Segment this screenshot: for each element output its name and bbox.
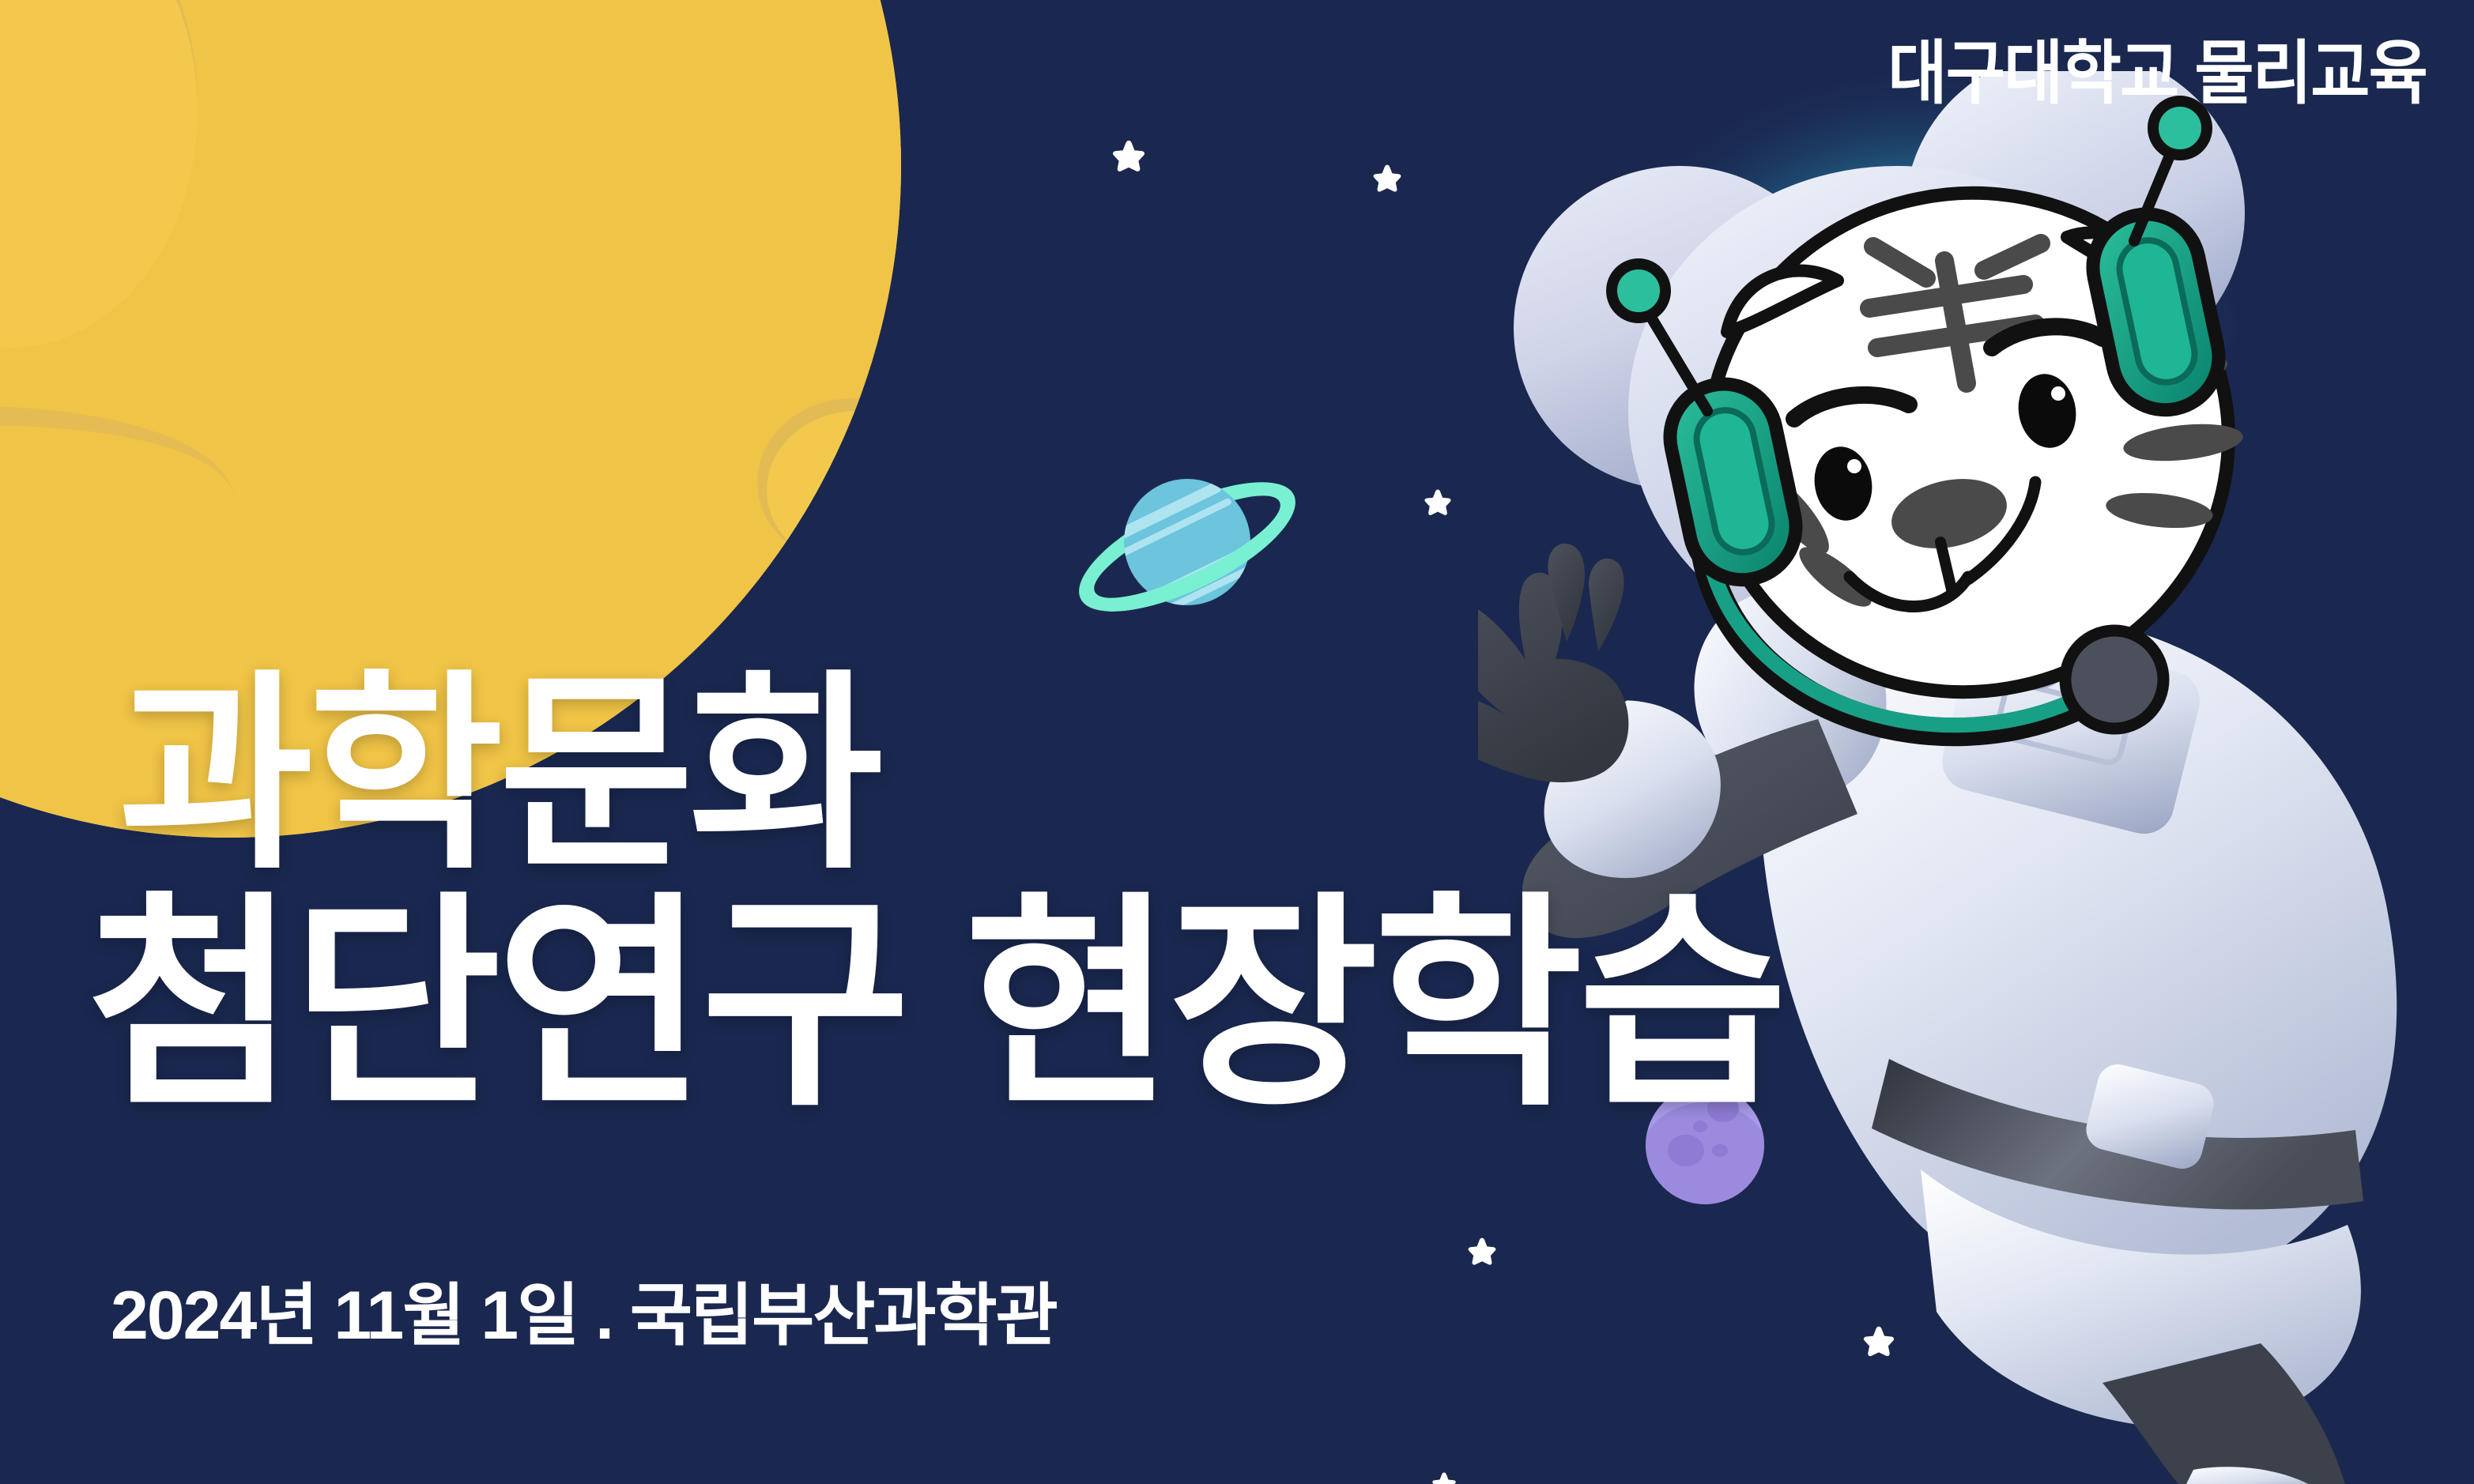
- ringed-planet-icon: [1075, 458, 1304, 632]
- star-icon: [1111, 139, 1147, 175]
- star-icon: [1371, 164, 1403, 195]
- university-logo-text: 대구대학교 물리교육: [1888, 17, 2427, 118]
- antenna-left-bulb: [1612, 264, 1665, 318]
- astronaut-glove: [1478, 544, 1628, 782]
- poster-canvas: 대구대학교 물리교육 과학문화 첨단연구 현장학습 2024년 11월 1일 .…: [0, 0, 2474, 1484]
- poster-title-line-2: 첨단연구 현장학습: [87, 891, 1783, 1119]
- star-icon: [1423, 488, 1453, 518]
- star-icon: [1431, 1471, 1458, 1484]
- headset-mic: [2065, 631, 2163, 729]
- poster-title-line-1: 과학문화: [119, 669, 879, 880]
- astronaut-tiger-mascot: [1478, 71, 2474, 1484]
- poster-subtitle-date-venue: 2024년 11월 1일 . 국립부산과학관: [111, 1260, 1057, 1358]
